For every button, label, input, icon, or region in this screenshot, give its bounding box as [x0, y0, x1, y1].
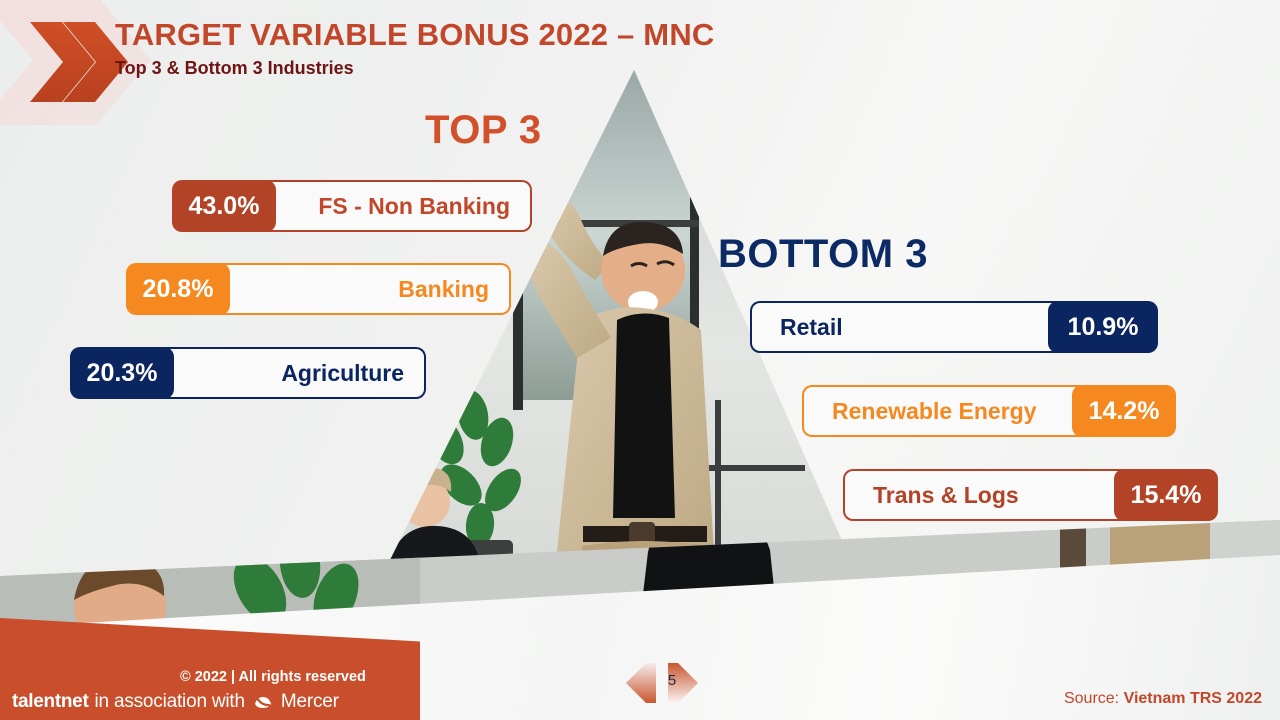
source-value: Vietnam TRS 2022: [1124, 690, 1262, 707]
talentnet-logo: talentnet: [12, 691, 88, 713]
bar-label: Agriculture: [281, 360, 404, 387]
bar-row-bottom-3[interactable]: Trans & Logs 15.4%: [843, 469, 1218, 521]
source-note: Source: Vietnam TRS 2022: [1064, 690, 1262, 708]
bar-row-top-3[interactable]: 20.3% Agriculture: [70, 347, 426, 399]
bar-track: Trans & Logs: [843, 469, 1124, 521]
page-subtitle: Top 3 & Bottom 3 Industries: [115, 58, 715, 79]
bar-track: FS - Non Banking: [266, 180, 532, 232]
page-number: 5: [661, 672, 683, 689]
bar-value-badge: 20.3%: [70, 347, 174, 399]
bar-value-badge: 20.8%: [126, 263, 230, 315]
footer-brand-line: talentnet in association with Mercer: [12, 691, 339, 713]
bar-row-bottom-1[interactable]: Retail 10.9%: [750, 301, 1158, 353]
bar-value-badge: 15.4%: [1114, 469, 1218, 521]
page-number-widget: 5: [612, 660, 722, 706]
bar-row-top-1[interactable]: 43.0% FS - Non Banking: [172, 180, 532, 232]
bar-track: Banking: [220, 263, 511, 315]
source-prefix: Source:: [1064, 690, 1124, 707]
section-heading-top3: TOP 3: [425, 108, 542, 153]
bar-label: Renewable Energy: [832, 398, 1037, 425]
mercer-logo-icon: [251, 694, 275, 710]
page-title: TARGET VARIABLE BONUS 2022 – MNC: [115, 18, 715, 53]
section-heading-bottom3: BOTTOM 3: [718, 232, 928, 277]
header: TARGET VARIABLE BONUS 2022 – MNC Top 3 &…: [115, 18, 715, 79]
association-text: in association with: [94, 691, 244, 713]
bar-label: Banking: [398, 276, 489, 303]
copyright-text: © 2022 | All rights reserved: [180, 669, 366, 685]
bar-label: FS - Non Banking: [318, 193, 510, 220]
bar-track: Retail: [750, 301, 1058, 353]
bar-value-badge: 10.9%: [1048, 301, 1158, 353]
bar-row-top-2[interactable]: 20.8% Banking: [126, 263, 511, 315]
bar-track: Renewable Energy: [802, 385, 1082, 437]
bar-row-bottom-2[interactable]: Renewable Energy 14.2%: [802, 385, 1176, 437]
slide: TARGET VARIABLE BONUS 2022 – MNC Top 3 &…: [0, 0, 1280, 720]
mercer-wordmark: Mercer: [281, 691, 339, 713]
bar-label: Trans & Logs: [873, 482, 1019, 509]
bar-track: Agriculture: [164, 347, 426, 399]
bar-value-badge: 14.2%: [1072, 385, 1176, 437]
bar-label: Retail: [780, 314, 843, 341]
bar-value-badge: 43.0%: [172, 180, 276, 232]
